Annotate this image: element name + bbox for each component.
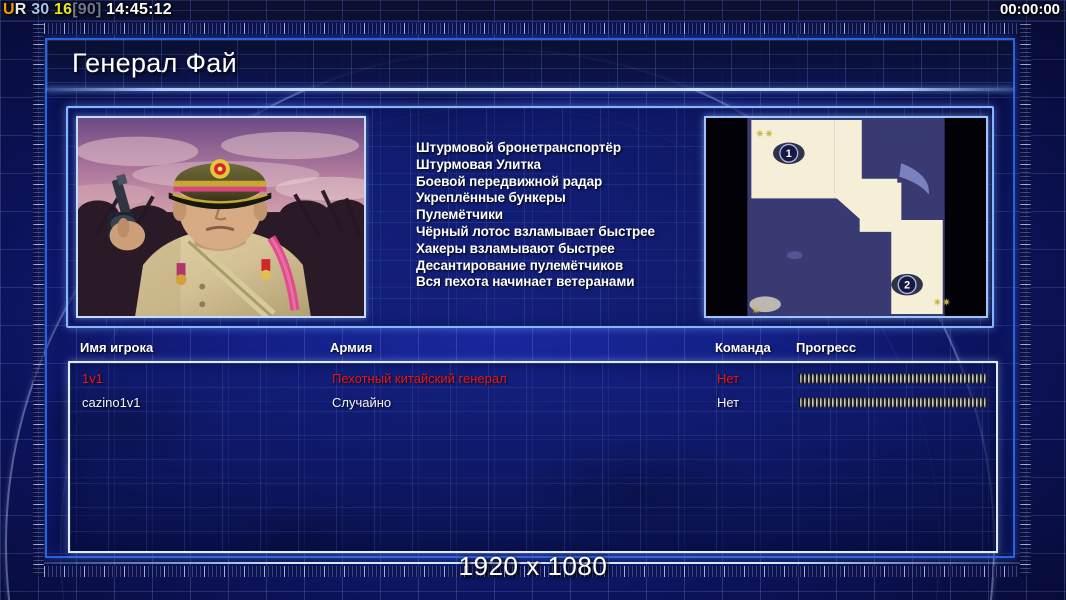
svg-text:✷✷: ✷✷ (933, 297, 951, 309)
player-name[interactable]: 1v1 (82, 371, 103, 386)
topbar-stats: UR 30 16[90] 14:45:12 (3, 1, 172, 19)
ruler-top (44, 23, 1020, 34)
topbar-value-3: [90] (72, 1, 101, 18)
column-header-name[interactable]: Имя игрока (80, 340, 153, 355)
svg-text:✷✷: ✷✷ (755, 129, 773, 141)
ruler-right (1020, 24, 1031, 576)
ability-item: Укреплённые бункеры (416, 190, 716, 207)
player-table-header: Имя игрока Армия Команда Прогресс (80, 340, 995, 358)
column-header-team[interactable]: Команда (715, 340, 771, 355)
player-team[interactable]: Нет (717, 395, 739, 410)
ability-item: Штурмовая Улитка (416, 157, 716, 174)
topbar-prefix-r: R (15, 1, 27, 18)
table-row[interactable]: 1v1 Пехотный китайский генерал Нет (70, 368, 996, 392)
ability-item: Боевой передвижной радар (416, 174, 716, 191)
title-underline (47, 88, 1013, 91)
svg-text:1: 1 (786, 148, 792, 160)
player-name[interactable]: cazino1v1 (82, 395, 141, 410)
ability-item: Вся пехота начинает ветеранами (416, 274, 716, 291)
ability-item: Пулемётчики (416, 207, 716, 224)
topbar-clock: 14:45:12 (106, 1, 172, 18)
ability-item: Штурмовой бронетранспортёр (416, 140, 716, 157)
player-team[interactable]: Нет (717, 371, 739, 386)
topbar-value-1: 30 (31, 1, 49, 18)
general-portrait (76, 116, 366, 318)
column-header-army[interactable]: Армия (330, 340, 372, 355)
table-row[interactable]: cazino1v1 Случайно Нет (70, 392, 996, 416)
topbar-value-2: 16 (54, 1, 72, 18)
player-progress-bar (798, 397, 988, 408)
svg-text:✷: ✷ (751, 305, 760, 316)
general-info-panel: Штурмовой бронетранспортёр Штурмовая Ули… (66, 106, 994, 328)
ability-item: Хакеры взламывают быстрее (416, 241, 716, 258)
top-status-bar: UR 30 16[90] 14:45:12 00:00:00 (0, 0, 1066, 21)
player-army[interactable]: Пехотный китайский генерал (332, 371, 507, 386)
map-preview[interactable]: ✷✷ ✷✷ ✷ 1 2 (704, 116, 988, 318)
player-list-panel: 1v1 Пехотный китайский генерал Нет cazin… (68, 361, 998, 553)
game-lobby-screen: UR 30 16[90] 14:45:12 00:00:00 Генерал Ф… (0, 0, 1066, 600)
topbar-prefix-u: U (3, 1, 15, 18)
ability-item: Десантирование пулемётчиков (416, 258, 716, 275)
ruler-left (33, 24, 44, 576)
ability-item: Чёрный лотос взламывает быстрее (416, 224, 716, 241)
player-army[interactable]: Случайно (332, 395, 391, 410)
column-header-progress[interactable]: Прогресс (796, 340, 856, 355)
page-title: Генерал Фай (72, 48, 237, 79)
general-abilities-list: Штурмовой бронетранспортёр Штурмовая Ули… (416, 140, 716, 291)
resolution-label: 1920 x 1080 (0, 551, 1066, 582)
player-progress-bar (798, 373, 988, 384)
topbar-timer: 00:00:00 (1000, 1, 1060, 18)
svg-text:2: 2 (904, 280, 910, 292)
